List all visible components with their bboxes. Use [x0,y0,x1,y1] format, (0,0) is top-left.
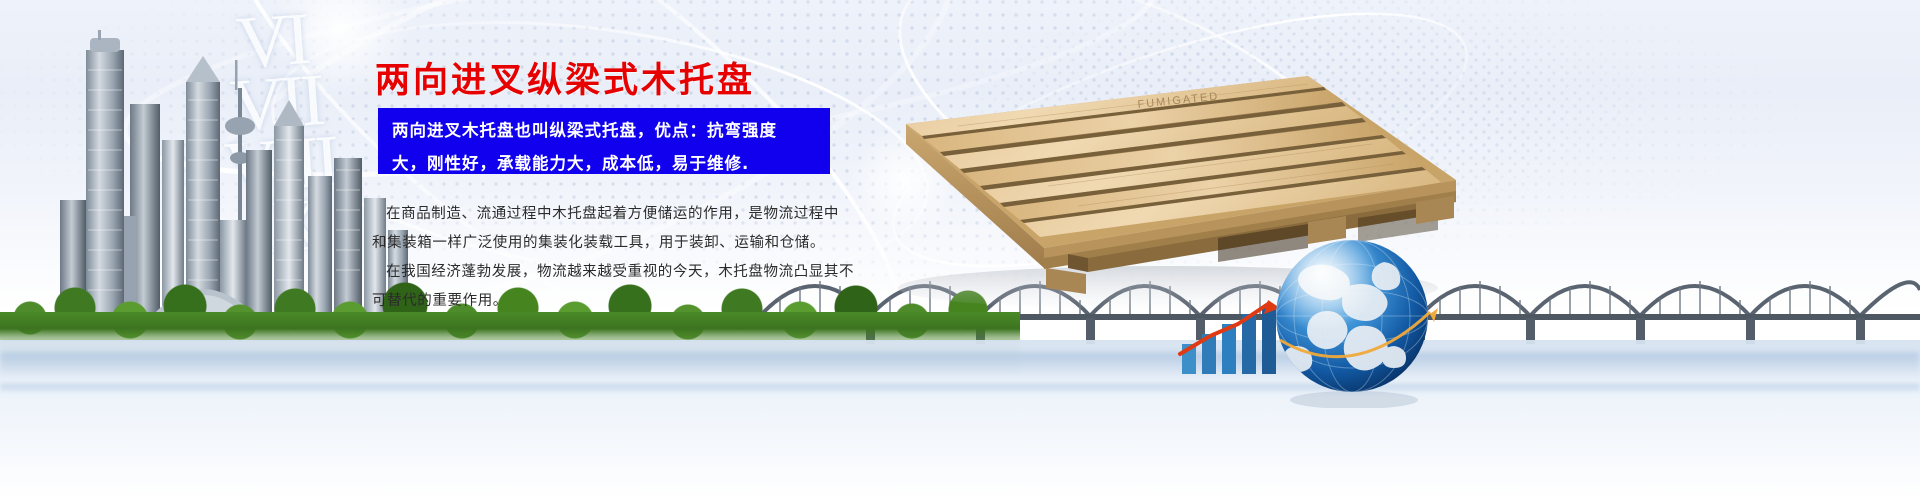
highlight-line-2: 大，刚性好，承载能力大，成本低，易于维修. [378,141,830,174]
paragraph-line-3: 在我国经济蓬勃发展，物流越来越受重视的今天，木托盘物流凸显其不 [372,258,852,287]
paragraph-line-1: 在商品制造、流通过程中木托盘起着方便储运的作用，是物流过程中 [372,200,852,229]
page-title: 两向进叉纵梁式木托盘 [375,52,755,103]
water-highlight-line [0,352,1920,378]
water-highlight-line-2 [0,384,1920,394]
highlight-line-1: 两向进叉木托盘也叫纵梁式托盘，优点：抗弯强度 [378,108,830,141]
description-paragraph: 在商品制造、流通过程中木托盘起着方便储运的作用，是物流过程中 和集装箱一样广泛使… [372,200,852,316]
paragraph-line-4: 可替代的重要作用。 [372,287,852,316]
paragraph-line-2: 和集装箱一样广泛使用的集装化装载工具，用于装卸、运输和仓储。 [372,229,852,258]
globe-icon [1262,228,1442,408]
promo-banner: VI VII VIII IX [0,0,1920,500]
highlight-callout-box: 两向进叉木托盘也叫纵梁式托盘，优点：抗弯强度 大，刚性好，承载能力大，成本低，易… [378,108,830,174]
